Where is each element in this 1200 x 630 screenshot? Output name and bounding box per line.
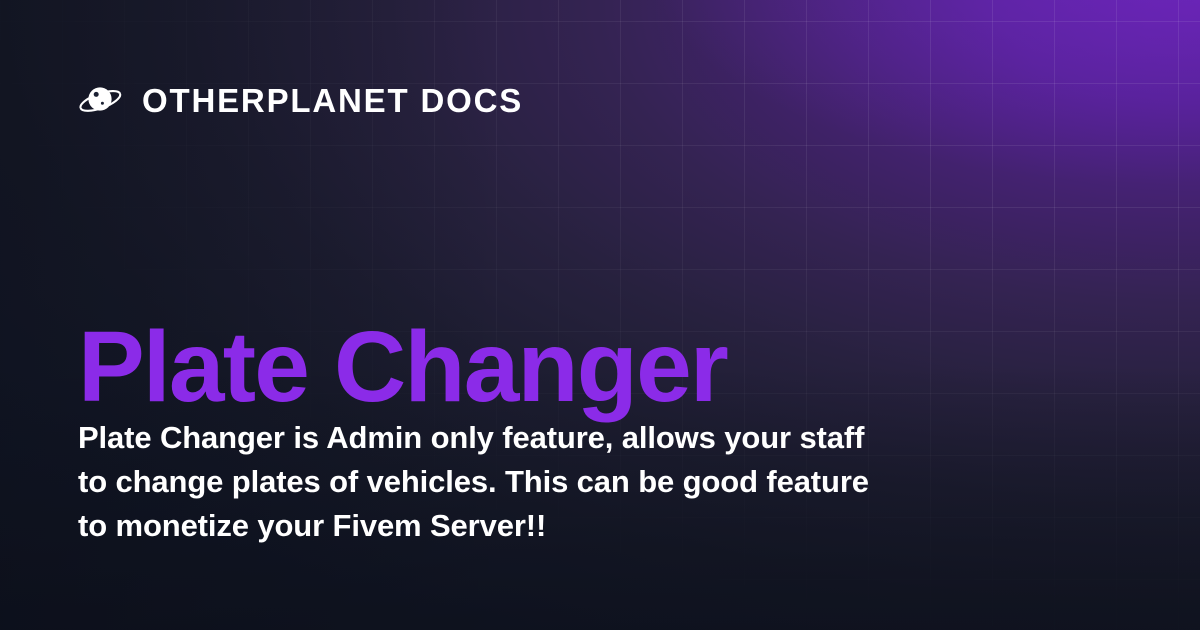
og-banner-card: OTHERPLANET DOCS Plate Changer Plate Cha…: [0, 0, 1200, 630]
brand-name-label: OTHERPLANET DOCS: [142, 84, 523, 117]
card-content: OTHERPLANET DOCS Plate Changer Plate Cha…: [0, 0, 1200, 630]
saturn-planet-icon: [78, 78, 122, 122]
brand-lockup[interactable]: OTHERPLANET DOCS: [78, 78, 523, 122]
page-description: Plate Changer is Admin only feature, all…: [78, 416, 878, 548]
page-title: Plate Changer: [78, 317, 727, 417]
